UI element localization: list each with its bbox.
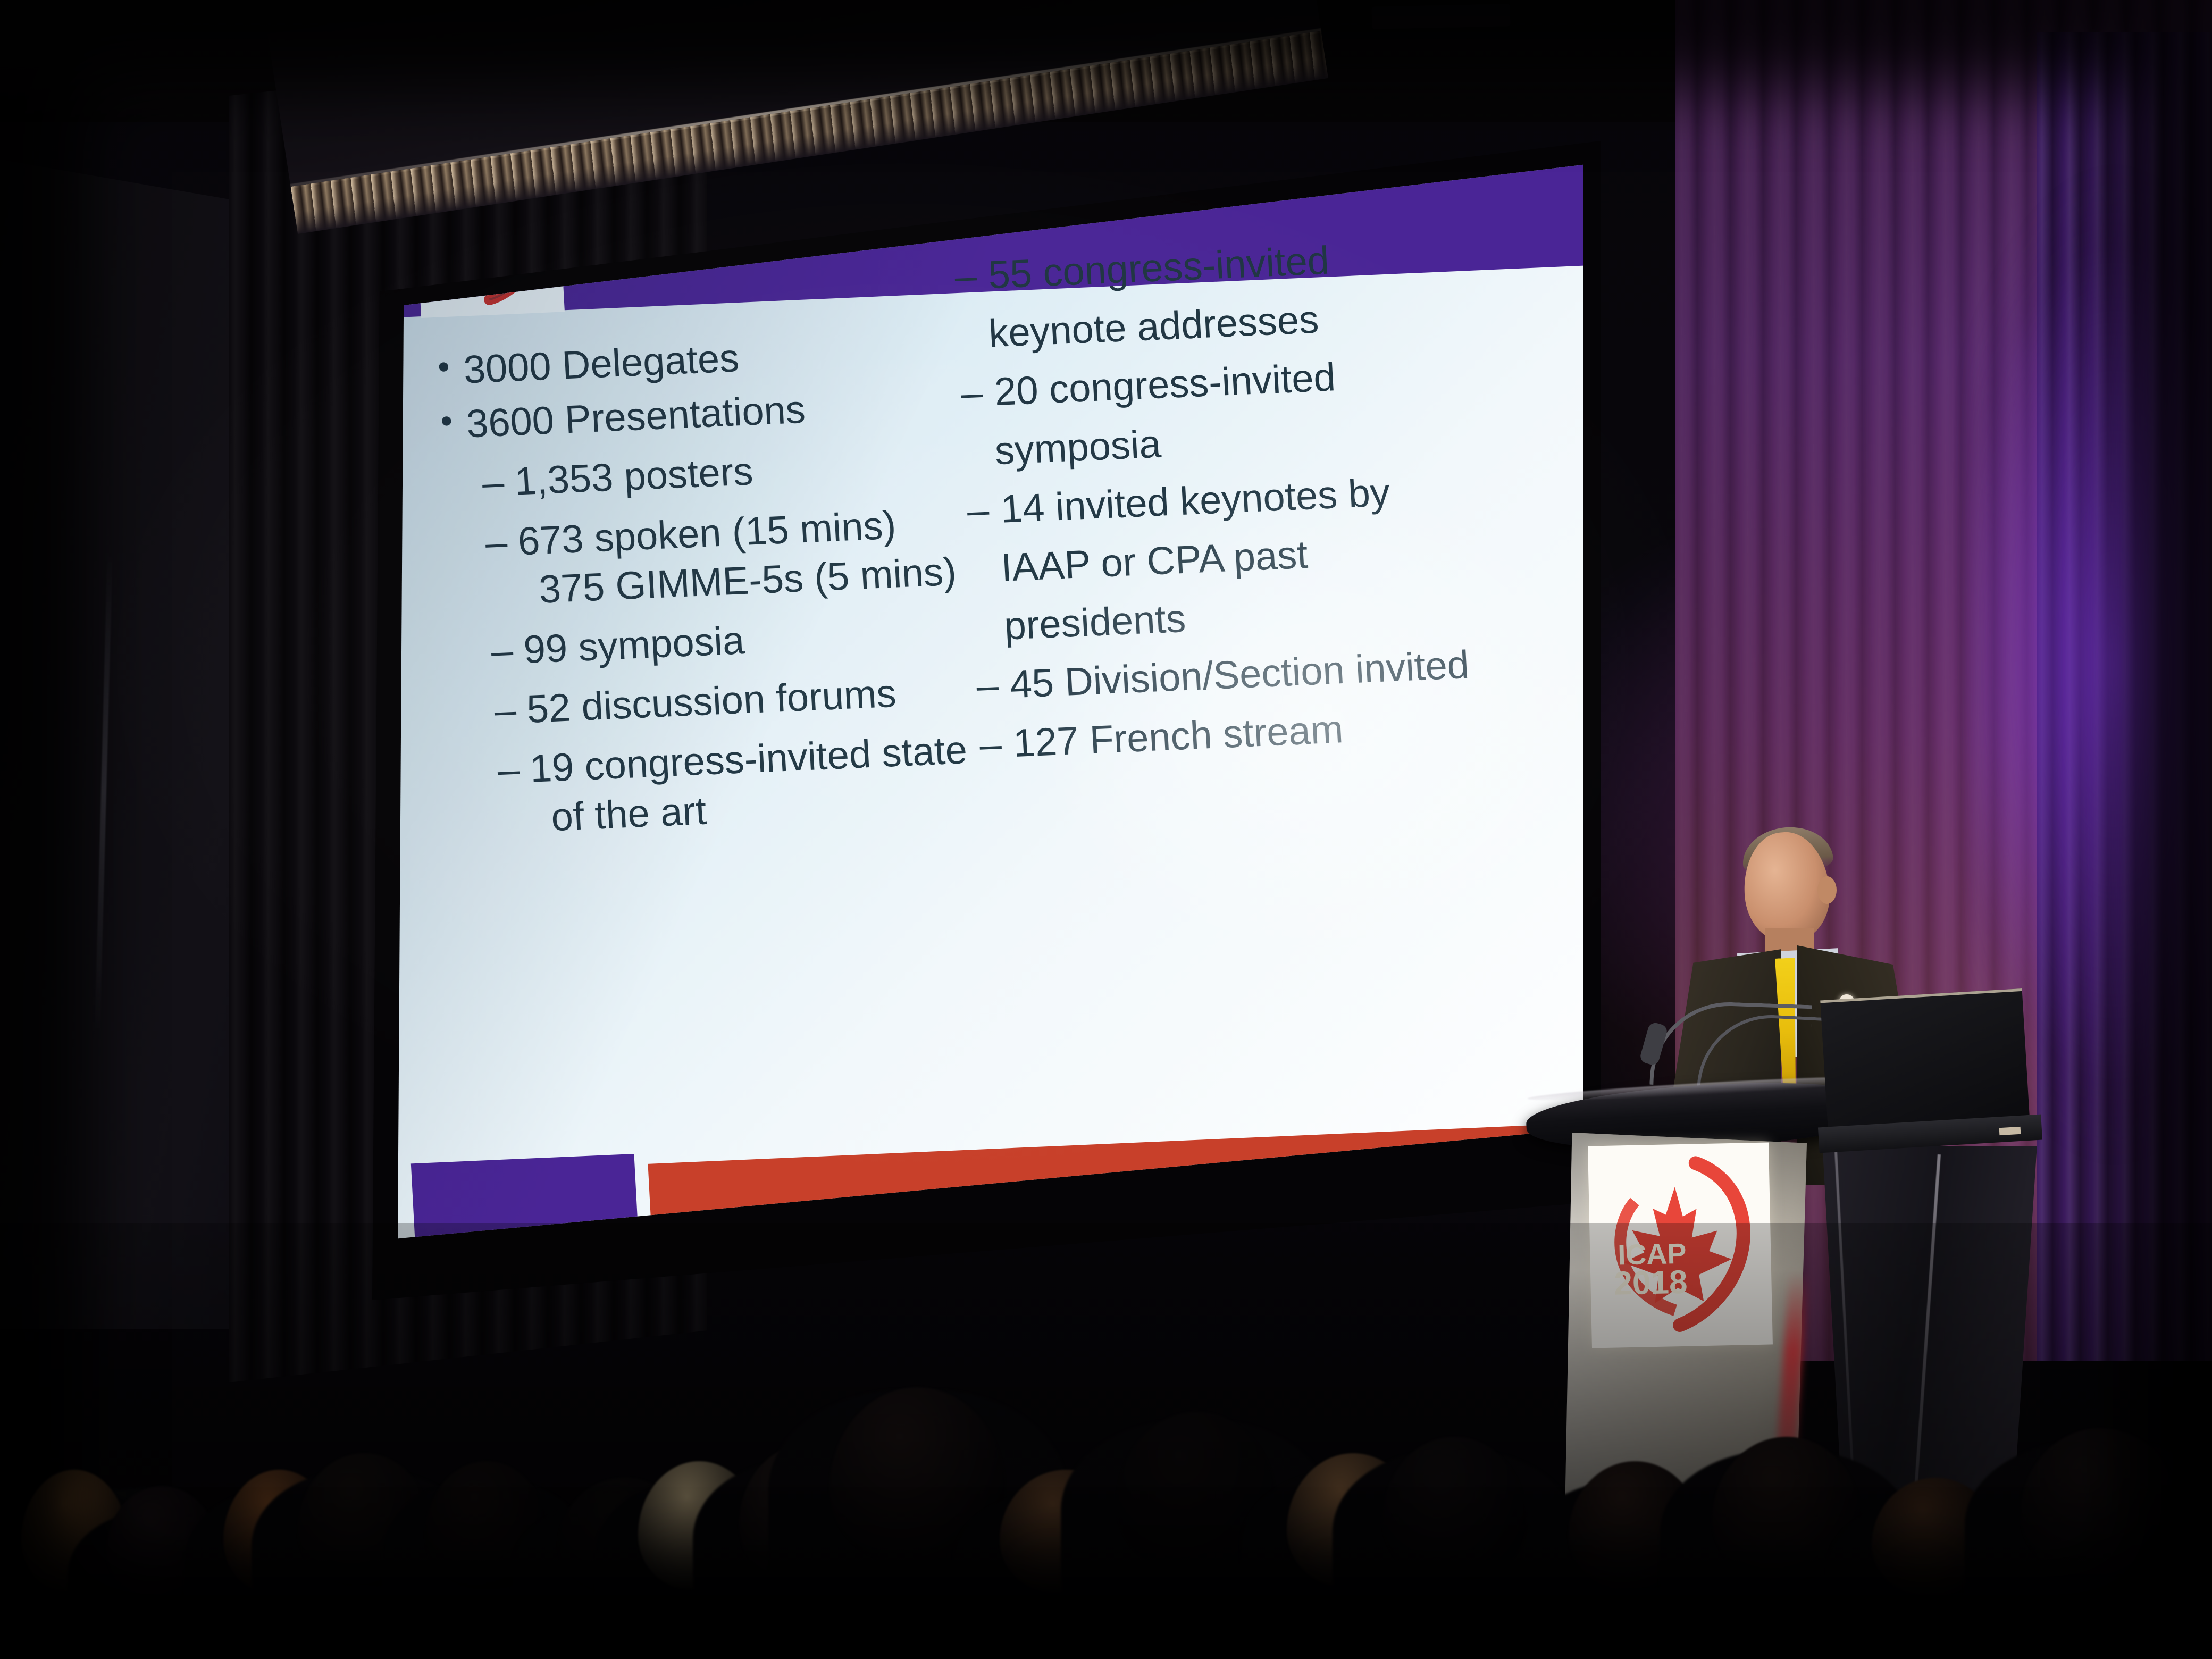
sub-bullet-marker: – (960, 367, 984, 420)
sub-bullet-marker: – (490, 625, 514, 677)
bullet-text: 3600 Presentations (465, 384, 807, 450)
sub-bullet-text: 99 symposia (522, 615, 745, 675)
laptop-indicator-light (1999, 1127, 2021, 1135)
projection-screen: ICAP 2018 ICAP2018 In Review • 3000 Dele… (372, 141, 1601, 1300)
slide-right-column: – 55 congress-invited keynote addresses … (953, 225, 1571, 778)
sub-bullet-marker: – (978, 718, 1003, 770)
sub-bullet-text: 52 discussion forums (525, 668, 898, 735)
bullet-marker: • (439, 399, 454, 451)
laptop-screen (1820, 988, 2030, 1128)
sub-bullet-text: presidents (1003, 593, 1187, 652)
sub-bullet-text: 14 invited keynotes by (999, 467, 1391, 535)
sub-bullet-marker: – (481, 457, 505, 509)
speaker-ear (1817, 876, 1837, 904)
audience-silhouettes (0, 1223, 2212, 1659)
sub-bullet-text: 45 Division/Section invited (1009, 639, 1470, 710)
logo-text-icap: ICAP (441, 238, 496, 265)
conference-room-scene: ICAP 2018 ICAP2018 In Review • 3000 Dele… (0, 0, 2212, 1659)
sub-bullet-marker: – (966, 484, 990, 537)
slide-content: ICAP 2018 ICAP2018 In Review • 3000 Dele… (398, 152, 1583, 1250)
presentation-slide: ICAP 2018 ICAP2018 In Review • 3000 Dele… (398, 152, 1583, 1250)
bullet-marker: • (437, 345, 451, 397)
sub-bullet-marker: – (953, 250, 978, 302)
slide-left-column: • 3000 Delegates • 3600 Presentations – … (437, 321, 1021, 847)
ceiling-vent (1372, 4, 1511, 29)
sub-bullet-marker: – (493, 684, 517, 736)
sub-bullet-marker: – (484, 516, 508, 568)
sub-bullet-text: 127 French stream (1012, 703, 1345, 769)
sub-bullet-marker: – (496, 744, 521, 796)
sub-bullet-text: 20 congress-invited (993, 352, 1337, 418)
bullet-text: 3000 Delegates (462, 332, 740, 396)
sub-bullet-text: symposia (993, 418, 1162, 476)
sub-bullet-text: 1,353 posters (513, 446, 754, 508)
sub-bullet-text: keynote addresses (987, 294, 1320, 359)
sub-bullet-text: IAAP or CPA past (1000, 529, 1309, 593)
sub-bullet-marker: – (975, 660, 1000, 712)
